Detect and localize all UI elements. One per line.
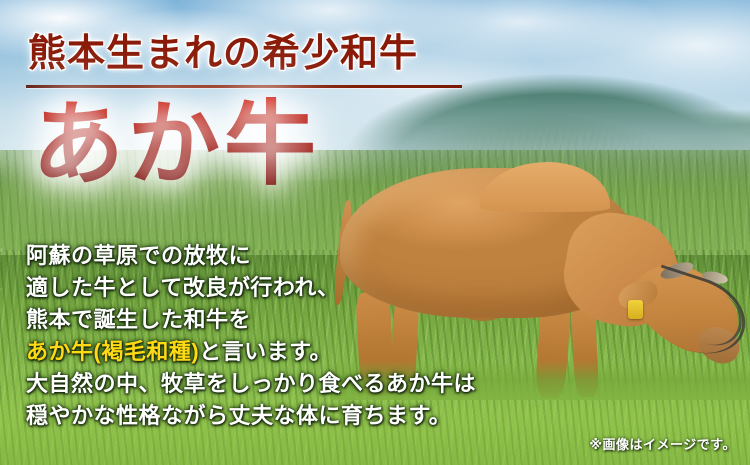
headline-divider	[26, 85, 462, 88]
description-block: 阿蘇の草原での放牧に 適した牛として改良が行われ、 熊本で誕生した和牛を あか牛…	[26, 240, 466, 432]
description-line-2: 適した牛として改良が行われ、	[26, 272, 466, 304]
description-line-3: 熊本で誕生した和牛を	[26, 304, 466, 336]
description-line-1: 阿蘇の草原での放牧に	[26, 240, 466, 272]
image-disclaimer: ※画像はイメージです。	[589, 434, 736, 453]
headline: 熊本生まれの希少和牛	[28, 22, 418, 77]
description-line-6: 穏やかな性格ながら丈夫な体に育ちます。	[26, 400, 466, 432]
description-line-5: 大自然の中、牧草をしっかり食べるあか牛は	[26, 368, 466, 400]
page-title: あか牛	[32, 96, 320, 192]
description-line-4-rest: と言います。	[199, 339, 332, 364]
akaushi-promo-banner: 熊本生まれの希少和牛 あか牛 阿蘇の草原での放牧に 適した牛として改良が行われ、…	[0, 0, 750, 465]
cow-ear-tag	[628, 300, 643, 319]
description-line-4: あか牛(褐毛和種)と言います。	[26, 336, 466, 368]
breed-name-highlight: あか牛(褐毛和種)	[26, 339, 199, 364]
